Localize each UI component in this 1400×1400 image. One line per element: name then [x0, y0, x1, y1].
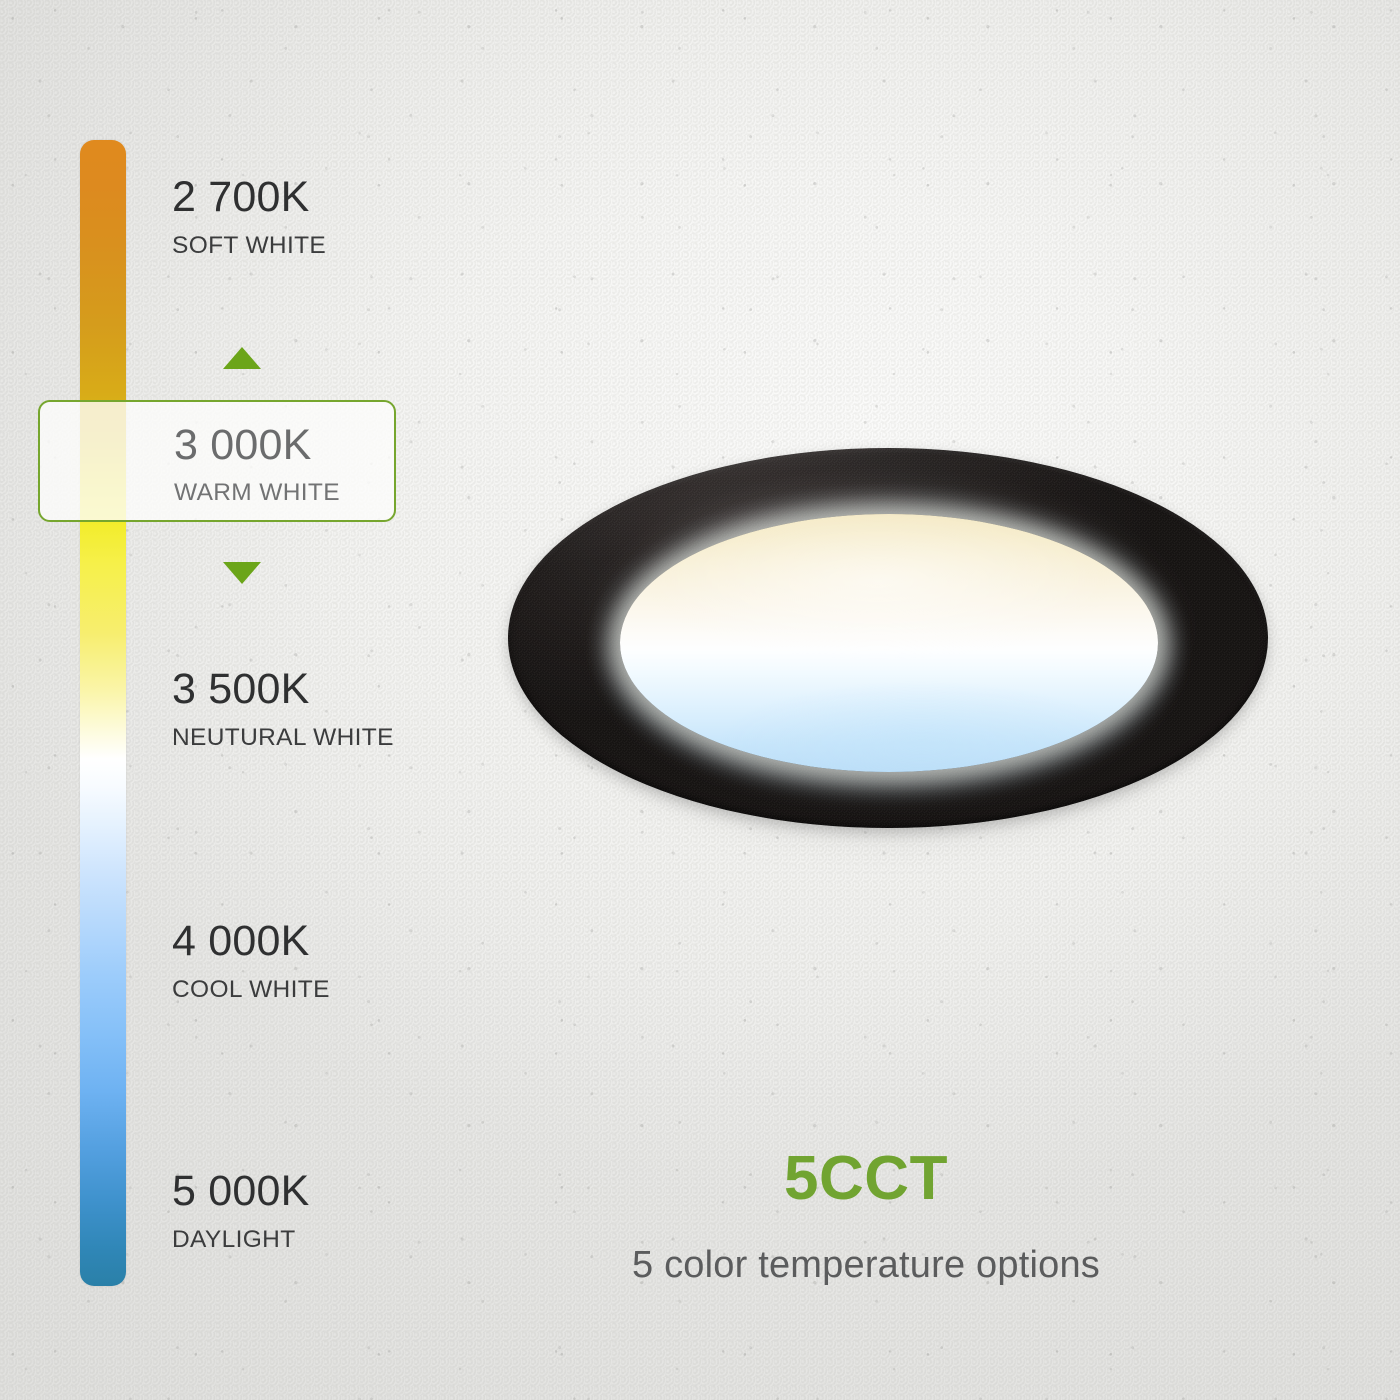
cct-temp-value: 3 000K [174, 424, 340, 467]
cct-temp-name: DAYLIGHT [172, 1228, 310, 1253]
cct-temp-name: NEUTURAL WHITE [172, 726, 394, 751]
cct-temp-value: 4 000K [172, 920, 330, 963]
cct-temp-value: 5 000K [172, 1170, 310, 1213]
caption-subtitle: 5 color temperature options [556, 1246, 1176, 1284]
triangle-up-icon[interactable] [223, 347, 261, 369]
cct-temp-name: SOFT WHITE [172, 234, 326, 259]
infographic-canvas: 2 700K SOFT WHITE 3 000K WARM WHITE 3 50… [0, 0, 1400, 1400]
cct-step-3500k[interactable]: 3 500K NEUTURAL WHITE [172, 668, 394, 751]
cct-temp-value: 3 500K [172, 668, 394, 711]
recessed-downlight-fixture [508, 448, 1270, 854]
triangle-down-icon[interactable] [223, 562, 261, 584]
cct-temp-name: COOL WHITE [172, 978, 330, 1003]
cct-step-3000k-selected[interactable]: 3 000K WARM WHITE [38, 400, 396, 522]
cct-gradient-bar [80, 140, 126, 1286]
cct-selected-text-group: 3 000K WARM WHITE [174, 424, 340, 506]
cct-step-5000k[interactable]: 5 000K DAYLIGHT [172, 1170, 310, 1253]
cct-step-2700k[interactable]: 2 700K SOFT WHITE [172, 176, 326, 259]
lens-sheen [620, 514, 1158, 772]
cct-temp-value: 2 700K [172, 176, 326, 219]
fixture-lens [620, 514, 1158, 772]
cct-step-4000k[interactable]: 4 000K COOL WHITE [172, 920, 330, 1003]
cct-temp-name: WARM WHITE [174, 481, 340, 506]
caption-title: 5CCT [556, 1148, 1176, 1210]
caption-block: 5CCT 5 color temperature options [556, 1148, 1176, 1284]
